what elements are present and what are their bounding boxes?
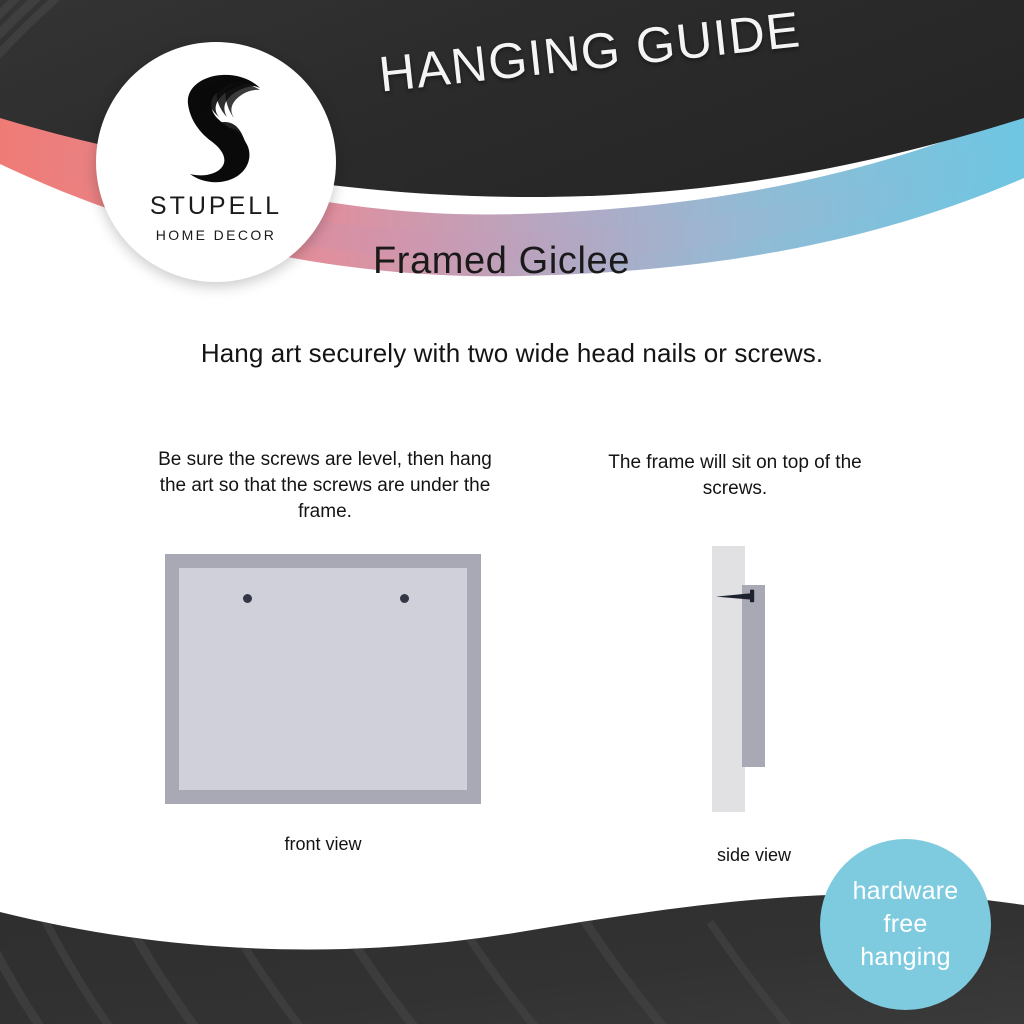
hardware-free-hanging-badge: hardware free hanging (820, 839, 991, 1010)
brand-tagline: HOME DECOR (156, 228, 276, 242)
front-view-label: front view (165, 834, 481, 855)
side-view-label: side view (668, 845, 840, 866)
front-view-mat (179, 568, 467, 790)
screw-dot-left-icon (243, 594, 252, 603)
side-view-frame-edge (742, 585, 765, 767)
side-view-frame-diagram (700, 546, 810, 821)
hanging-guide-page: STUPELL HOME DECOR HANGING GUIDE Framed … (0, 0, 1024, 1024)
nail-side-profile-icon (715, 587, 759, 605)
front-view-frame-diagram (165, 554, 481, 804)
front-view-caption: Be sure the screws are level, then hang … (158, 447, 492, 526)
stupell-s-swoosh-logo-icon (156, 66, 276, 186)
screw-dot-right-icon (400, 594, 409, 603)
brand-name: STUPELL (150, 194, 282, 219)
brand-logo-badge: STUPELL HOME DECOR (96, 42, 336, 282)
side-view-caption: The frame will sit on top of the screws. (600, 450, 870, 502)
side-view-wall (712, 546, 745, 812)
badge-line-1: hardware (853, 875, 959, 908)
badge-line-2: free (884, 908, 928, 941)
page-title: HANGING GUIDE (376, 0, 804, 103)
main-instruction-text: Hang art securely with two wide head nai… (0, 338, 1024, 369)
product-type-label: Framed Giclee (373, 240, 630, 283)
badge-line-3: hanging (860, 941, 950, 974)
